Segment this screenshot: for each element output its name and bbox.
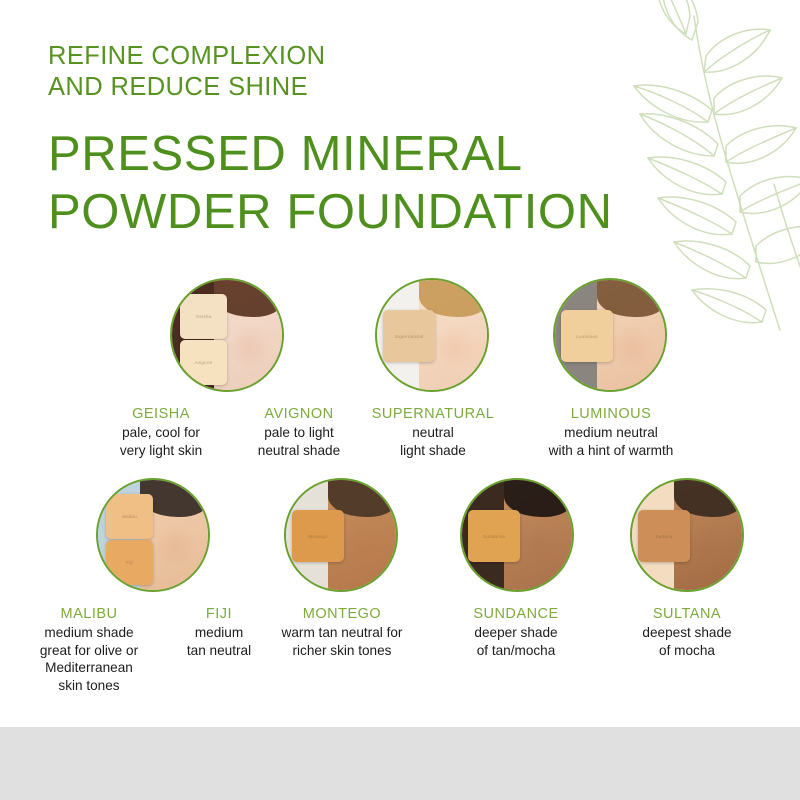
compact-label: Montego <box>308 534 327 539</box>
photo-cheek-highlight <box>430 326 478 368</box>
powder-compact-malibu: Malibu <box>106 494 153 539</box>
shade-caption-luminous: LUMINOUSmedium neutral with a hint of wa… <box>528 405 694 459</box>
shade-name: SUPERNATURAL <box>358 405 508 424</box>
photo-cheek-highlight <box>339 526 387 568</box>
shade-swatch-supernatural[interactable]: Supernatural <box>375 278 489 392</box>
shade-name: AVIGNON <box>240 405 358 424</box>
caption-group-sultana: SULTANAdeepest shade of mocha <box>620 605 754 659</box>
shade-caption-fiji: FIJImedium tan neutral <box>170 605 268 694</box>
shade-name: MONTEGO <box>263 605 421 624</box>
shade-caption-sundance: SUNDANCEdeeper shade of tan/mocha <box>451 605 581 659</box>
shade-name: FIJI <box>170 605 268 624</box>
caption-group-montego: MONTEGOwarm tan neutral for richer skin … <box>263 605 421 659</box>
shade-photo-circle: Sundance <box>460 478 574 592</box>
compact-label: Sundance <box>483 534 505 539</box>
powder-compact-sultana: Sultana <box>638 510 690 562</box>
powder-compact-montego: Montego <box>292 510 344 562</box>
caption-group-supernatural: SUPERNATURALneutral light shade <box>358 405 508 459</box>
shade-caption-sultana: SULTANAdeepest shade of mocha <box>620 605 754 659</box>
shade-swatch-sultana[interactable]: Sultana <box>630 478 744 592</box>
compact-label: Geisha <box>196 314 212 319</box>
shade-caption-montego: MONTEGOwarm tan neutral for richer skin … <box>263 605 421 659</box>
powder-compact-sundance: Sundance <box>468 510 520 562</box>
photo-cheek-highlight <box>608 326 656 368</box>
powder-compact-fiji: Fiji <box>106 540 153 585</box>
shade-name: SULTANA <box>620 605 754 624</box>
compact-label: Malibu <box>122 514 137 519</box>
shade-name: LUMINOUS <box>528 405 694 424</box>
page-title: PRESSED MINERAL POWDER FOUNDATION <box>48 125 613 241</box>
compact-label: Sultana <box>656 534 673 539</box>
bottom-band <box>0 727 800 800</box>
shade-photo-circle: Montego <box>284 478 398 592</box>
shade-description: warm tan neutral for richer skin tones <box>263 624 421 659</box>
shade-name: GEISHA <box>100 405 222 424</box>
compact-label: Luminous <box>576 334 598 339</box>
shade-caption-malibu: MALIBUmedium shade great for olive or Me… <box>22 605 156 694</box>
compact-label: Supernatural <box>395 334 424 339</box>
shade-swatch-malibu-fiji[interactable]: MalibuFiji <box>96 478 210 592</box>
photo-cheek-highlight <box>151 526 199 568</box>
shade-photo-circle: Supernatural <box>375 278 489 392</box>
shade-photo-circle: GeishaAvignon <box>170 278 284 392</box>
compact-label: Avignon <box>195 360 213 365</box>
shade-description: deepest shade of mocha <box>620 624 754 659</box>
shade-caption-geisha: GEISHApale, cool for very light skin <box>100 405 222 459</box>
caption-group-luminous: LUMINOUSmedium neutral with a hint of wa… <box>528 405 694 459</box>
shade-photo-circle: Luminous <box>553 278 667 392</box>
powder-compact-luminous: Luminous <box>561 310 613 362</box>
shade-name: MALIBU <box>22 605 156 624</box>
shade-caption-avignon: AVIGNONpale to light neutral shade <box>240 405 358 459</box>
photo-cheek-highlight <box>515 526 563 568</box>
shade-description: pale to light neutral shade <box>240 424 358 459</box>
caption-group-sundance: SUNDANCEdeeper shade of tan/mocha <box>451 605 581 659</box>
compact-label: Fiji <box>126 560 133 565</box>
powder-compact-geisha: Geisha <box>180 294 227 339</box>
shade-description: medium neutral with a hint of warmth <box>528 424 694 459</box>
caption-group-malibu-fiji: MALIBUmedium shade great for olive or Me… <box>22 605 268 694</box>
infographic-page: REFINE COMPLEXION AND REDUCE SHINE PRESS… <box>0 0 800 800</box>
photo-cheek-highlight <box>685 526 733 568</box>
kicker-heading: REFINE COMPLEXION AND REDUCE SHINE <box>48 41 325 103</box>
shade-swatch-sundance[interactable]: Sundance <box>460 478 574 592</box>
shade-photo-circle: MalibuFiji <box>96 478 210 592</box>
shade-photo-circle: Sultana <box>630 478 744 592</box>
powder-compact-supernatural: Supernatural <box>383 310 435 362</box>
shade-description: medium tan neutral <box>170 624 268 659</box>
shade-description: medium shade great for olive or Mediterr… <box>22 624 156 694</box>
powder-compact-avignon: Avignon <box>180 340 227 385</box>
shade-swatch-geisha-avignon[interactable]: GeishaAvignon <box>170 278 284 392</box>
shade-description: deeper shade of tan/mocha <box>451 624 581 659</box>
shade-description: pale, cool for very light skin <box>100 424 222 459</box>
shade-swatch-luminous[interactable]: Luminous <box>553 278 667 392</box>
caption-group-geisha-avignon: GEISHApale, cool for very light skinAVIG… <box>100 405 358 459</box>
shade-name: SUNDANCE <box>451 605 581 624</box>
shade-swatch-montego[interactable]: Montego <box>284 478 398 592</box>
shade-description: neutral light shade <box>358 424 508 459</box>
shade-caption-supernatural: SUPERNATURALneutral light shade <box>358 405 508 459</box>
photo-cheek-highlight <box>225 326 273 368</box>
